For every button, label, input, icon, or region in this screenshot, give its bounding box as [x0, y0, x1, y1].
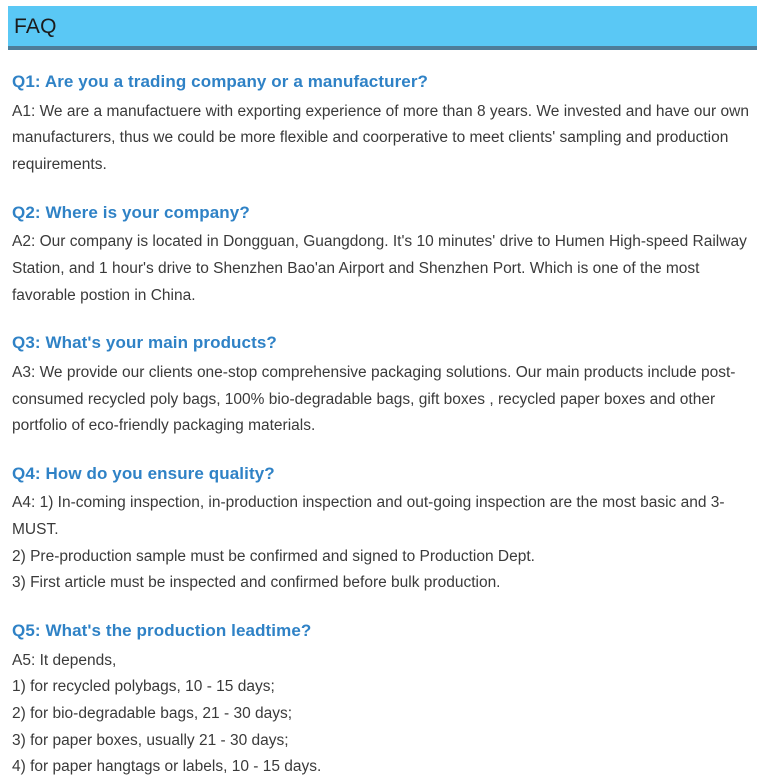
faq-answer-line: 2) for bio-degradable bags, 21 - 30 days…: [12, 701, 753, 728]
faq-answer-line: 3) for paper boxes, usually 21 - 30 days…: [12, 728, 753, 755]
faq-item: Q2: Where is your company? A2: Our compa…: [12, 201, 753, 310]
faq-answer-line: A4: 1) In-coming inspection, in-producti…: [12, 490, 753, 543]
faq-header-bar: FAQ: [8, 6, 757, 50]
page-title: FAQ: [8, 16, 57, 37]
faq-answer: A4: 1) In-coming inspection, in-producti…: [12, 490, 753, 597]
faq-item: Q4: How do you ensure quality? A4: 1) In…: [12, 462, 753, 597]
faq-answer-line: A1: We are a manufactuere with exporting…: [12, 99, 753, 179]
faq-item: Q3: What's your main products? A3: We pr…: [12, 331, 753, 440]
faq-answer: A1: We are a manufactuere with exporting…: [12, 99, 753, 179]
faq-item: Q5: What's the production leadtime? A5: …: [12, 619, 753, 781]
faq-list: Q1: Are you a trading company or a manuf…: [0, 70, 765, 781]
faq-answer-line: 3) First article must be inspected and c…: [12, 570, 753, 597]
faq-answer: A5: It depends, 1) for recycled polybags…: [12, 648, 753, 781]
faq-question: Q2: Where is your company?: [12, 201, 753, 226]
faq-answer-line: 4) for paper hangtags or labels, 10 - 15…: [12, 754, 753, 781]
faq-question: Q1: Are you a trading company or a manuf…: [12, 70, 753, 95]
faq-answer: A2: Our company is located in Dongguan, …: [12, 229, 753, 309]
faq-answer-line: A2: Our company is located in Dongguan, …: [12, 229, 753, 309]
faq-question: Q3: What's your main products?: [12, 331, 753, 356]
faq-answer: A3: We provide our clients one-stop comp…: [12, 360, 753, 440]
faq-answer-line: A5: It depends,: [12, 648, 753, 675]
faq-item: Q1: Are you a trading company or a manuf…: [12, 70, 753, 179]
faq-answer-line: 1) for recycled polybags, 10 - 15 days;: [12, 674, 753, 701]
faq-page: FAQ Q1: Are you a trading company or a m…: [0, 6, 765, 754]
faq-question: Q5: What's the production leadtime?: [12, 619, 753, 644]
faq-answer-line: A3: We provide our clients one-stop comp…: [12, 360, 753, 440]
faq-question: Q4: How do you ensure quality?: [12, 462, 753, 487]
faq-answer-line: 2) Pre-production sample must be confirm…: [12, 544, 753, 571]
